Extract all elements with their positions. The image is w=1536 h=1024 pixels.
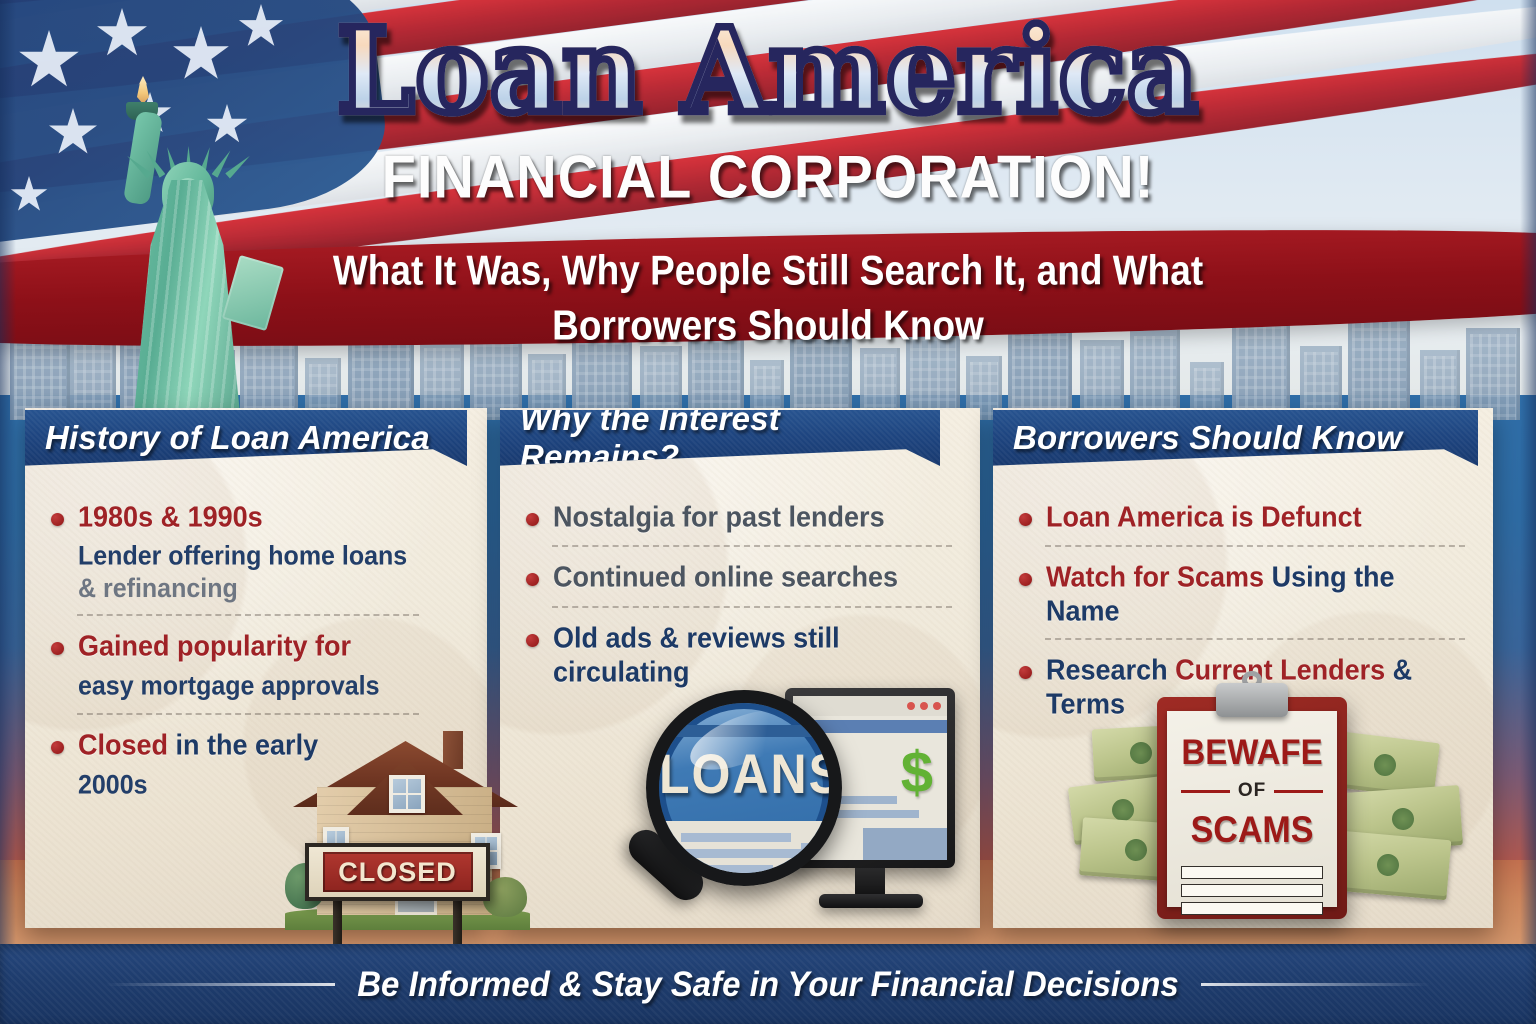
list-item: Continued online searches — [526, 560, 958, 592]
magnifier-lens: LOANS — [646, 690, 842, 886]
list-item: Loan America is Defunct — [1019, 500, 1471, 532]
list-item: Old ads & reviews still circulating — [526, 621, 958, 686]
bullet-dot-icon — [526, 634, 539, 647]
divider — [1045, 638, 1465, 640]
list-item-lead-start: Research — [1046, 654, 1168, 686]
list-item-detail: easy mortgage approvals — [78, 670, 465, 702]
list-item: 1980s & 1990s — [51, 500, 465, 532]
bullet-dot-icon — [51, 513, 64, 526]
dollar-sign-icon: $ — [901, 744, 933, 802]
list-item: Watch for Scams Using the Name — [1019, 560, 1471, 625]
list-item-detail-main: Lender offering home loans — [78, 541, 407, 571]
beware-label: BEWAFE — [1167, 731, 1337, 772]
list-item-lead: Watch for Scams Using the Name — [1046, 560, 1471, 629]
of-label: OF — [1238, 780, 1266, 802]
edge-shade-left — [0, 0, 16, 944]
bullet-dot-icon — [1019, 513, 1032, 526]
page-title: Loan America — [337, 13, 1199, 130]
list-item-lead: Old ads & reviews still circulating — [553, 621, 958, 690]
loans-label: LOANS — [659, 742, 829, 807]
list-item-detail-main: easy mortgage approvals — [78, 671, 380, 701]
browser-dot-icon — [920, 702, 928, 710]
list-item-detail-muted: & refinancing — [78, 574, 238, 604]
sign-post — [453, 900, 462, 944]
scams-label: SCAMS — [1167, 809, 1337, 851]
bullet-dot-icon — [1019, 666, 1032, 679]
form-lines — [1181, 866, 1323, 915]
house-icon: CLOSED — [285, 715, 530, 930]
browser-dot-icon — [907, 702, 915, 710]
list-item-lead: Continued online searches — [553, 560, 898, 594]
page-tagline: What It Was, Why People Still Search It,… — [0, 244, 1536, 353]
list-item: Gained popularity for — [51, 629, 465, 661]
infographic-stage: Loan America FINANCIAL CORPORATION! What… — [0, 0, 1536, 1024]
footer-rule-left — [105, 983, 335, 986]
footer-rule-right — [1201, 983, 1431, 986]
closed-sign: CLOSED — [305, 843, 490, 901]
clipboard-icon: BEWAFE OF SCAMS — [1157, 697, 1347, 919]
bullet-dot-icon — [526, 573, 539, 586]
list-item-detail-main: 2000s — [78, 770, 148, 800]
list-item-detail: Lender offering home loans & refinancing — [78, 540, 465, 605]
bullet-dot-icon — [1019, 573, 1032, 586]
form-line — [1181, 902, 1323, 915]
browser-dot-icon — [933, 702, 941, 710]
divider — [77, 614, 419, 616]
list-item-lead: 1980s & 1990s — [78, 500, 263, 534]
divider — [552, 545, 952, 547]
monitor-stand-neck — [855, 868, 885, 896]
list-item-lead: Gained popularity for — [78, 629, 351, 663]
panel-interest-body: Nostalgia for past lenders Continued onl… — [500, 478, 980, 686]
list-item-lead-accent: Current Lenders — [1168, 654, 1386, 686]
panel-interest-header: Why the Interest Remains? — [500, 410, 940, 466]
bullet-dot-icon — [51, 642, 64, 655]
panel-interest-title: Why the Interest Remains? — [520, 408, 940, 476]
money-and-clipboard-scene: BEWAFE OF SCAMS — [1065, 685, 1485, 935]
footer-banner: Be Informed & Stay Safe in Your Financia… — [0, 944, 1536, 1024]
list-item-lead-accent: Closed — [78, 729, 168, 761]
sign-post — [333, 900, 342, 944]
magnifying-glass-icon: LOANS — [622, 690, 842, 930]
list-item-lead: Loan America is Defunct — [1046, 500, 1362, 534]
panel-borrowers-title: Borrowers Should Know — [1013, 419, 1402, 457]
panel-borrowers-header: Borrowers Should Know — [993, 410, 1478, 466]
list-item-lead-accent: Watch for Scams — [1046, 561, 1264, 593]
panel-history-title: History of Loan America — [45, 419, 430, 457]
browser-dots — [907, 702, 941, 710]
rule-right — [1274, 790, 1323, 793]
list-item: Nostalgia for past lenders — [526, 500, 958, 532]
rule-left — [1181, 790, 1230, 793]
footer-text: Be Informed & Stay Safe in Your Financia… — [357, 963, 1179, 1004]
list-item-lead: Closed in the early — [78, 728, 318, 762]
content-block — [863, 828, 947, 860]
window-icon — [389, 775, 425, 813]
beware-of-row: OF — [1181, 780, 1323, 802]
chimney-icon — [443, 731, 463, 769]
form-line — [1181, 866, 1323, 879]
edge-shade-right — [1520, 0, 1536, 944]
bullet-dot-icon — [526, 513, 539, 526]
clipboard-clip-icon — [1216, 683, 1288, 717]
list-item-lead: Nostalgia for past lenders — [553, 500, 885, 534]
form-line — [1181, 884, 1323, 897]
closed-sign-label: CLOSED — [338, 857, 457, 888]
bullet-dot-icon — [51, 741, 64, 754]
panel-history-header: History of Loan America — [25, 410, 467, 466]
header-block: Loan America FINANCIAL CORPORATION! — [0, 16, 1536, 209]
divider — [552, 606, 952, 608]
page-subtitle: FINANCIAL CORPORATION! — [0, 141, 1536, 211]
divider — [1045, 545, 1465, 547]
clipboard-paper: BEWAFE OF SCAMS — [1167, 711, 1337, 907]
